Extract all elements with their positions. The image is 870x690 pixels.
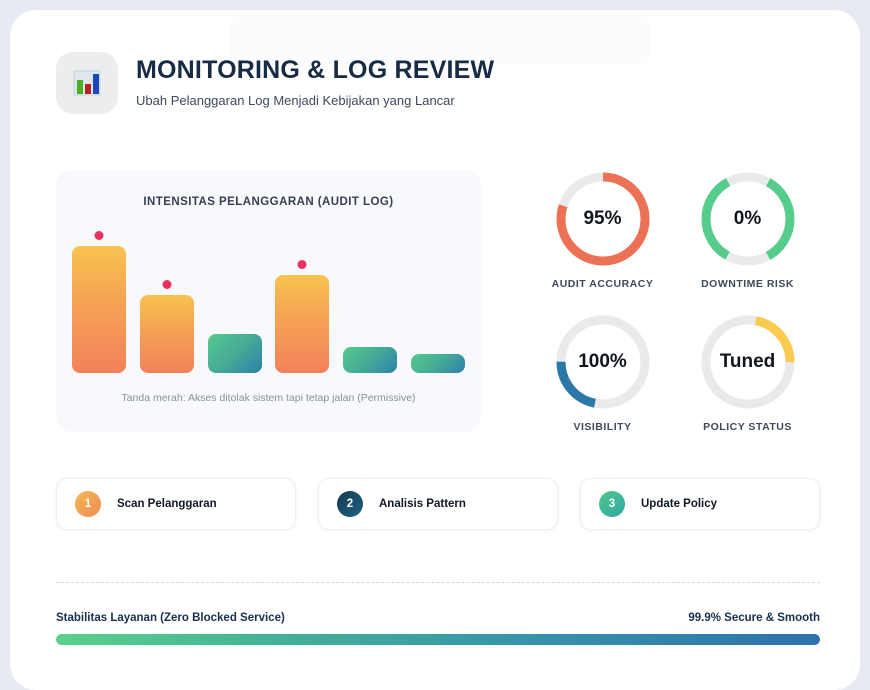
gauge-value: Tuned <box>699 313 797 411</box>
main-card: MONITORING & LOG REVIEW Ubah Pelanggaran… <box>10 10 860 690</box>
gauge-ring: 100% <box>554 313 652 411</box>
bar-chart-icon <box>56 52 118 114</box>
chart-bar <box>275 275 329 373</box>
gauge-label: POLICY STATUS <box>703 421 792 433</box>
chart-caption: Tanda merah: Akses ditolak sistem tapi t… <box>56 392 481 404</box>
step-label: Scan Pelanggaran <box>117 498 217 510</box>
chart-title: INTENSITAS PELANGGARAN (AUDIT LOG) <box>56 196 481 208</box>
step-number-badge: 2 <box>337 491 363 517</box>
page-root: MONITORING & LOG REVIEW Ubah Pelanggaran… <box>0 0 870 690</box>
bar-slot <box>275 275 329 373</box>
stability-progress-track <box>56 634 820 645</box>
bar-slot <box>72 246 126 373</box>
kpi-gauge-grid: 95%AUDIT ACCURACY0%DOWNTIME RISK100%VISI… <box>530 170 820 456</box>
workflow-steps: 1Scan Pelanggaran2Analisis Pattern3Updat… <box>56 478 820 530</box>
footer-divider <box>56 582 820 583</box>
step-label: Update Policy <box>641 498 717 510</box>
step-card-1[interactable]: 1Scan Pelanggaran <box>56 478 296 530</box>
gauge-value: 100% <box>554 313 652 411</box>
bar-slot <box>140 295 194 373</box>
chart-bar <box>208 334 262 373</box>
step-number-badge: 1 <box>75 491 101 517</box>
step-card-2[interactable]: 2Analisis Pattern <box>318 478 558 530</box>
denied-marker-dot <box>162 280 171 289</box>
step-number-badge: 3 <box>599 491 625 517</box>
gauge-downtime-risk: 0%DOWNTIME RISK <box>675 170 820 313</box>
gauge-label: VISIBILITY <box>573 421 631 433</box>
gauge-visibility: 100%VISIBILITY <box>530 313 675 456</box>
gauge-ring: 0% <box>699 170 797 268</box>
gauge-policy-status: TunedPOLICY STATUS <box>675 313 820 456</box>
chart-bar <box>343 347 397 373</box>
denied-marker-dot <box>298 260 307 269</box>
gauge-label: DOWNTIME RISK <box>701 278 794 290</box>
gauge-ring: 95% <box>554 170 652 268</box>
header-text-group: MONITORING & LOG REVIEW Ubah Pelanggaran… <box>136 57 494 108</box>
step-card-3[interactable]: 3Update Policy <box>580 478 820 530</box>
chart-bars <box>72 228 465 373</box>
gauge-value: 0% <box>699 170 797 268</box>
bar-slot <box>208 334 262 373</box>
bar-slot <box>343 347 397 373</box>
footer-row: Stabilitas Layanan (Zero Blocked Service… <box>56 612 820 624</box>
gauge-label: AUDIT ACCURACY <box>552 278 654 290</box>
stability-label: Stabilitas Layanan (Zero Blocked Service… <box>56 612 285 624</box>
step-label: Analisis Pattern <box>379 498 466 510</box>
gauge-value: 95% <box>554 170 652 268</box>
stability-progress-fill <box>56 634 820 645</box>
denied-marker-dot <box>95 231 104 240</box>
chart-bar <box>140 295 194 373</box>
chart-bar <box>411 354 465 373</box>
gauge-ring: Tuned <box>699 313 797 411</box>
gauge-audit-accuracy: 95%AUDIT ACCURACY <box>530 170 675 313</box>
violation-chart-panel: INTENSITAS PELANGGARAN (AUDIT LOG) Tanda… <box>56 170 481 432</box>
bar-slot <box>411 354 465 373</box>
stability-value: 99.9% Secure & Smooth <box>688 612 820 624</box>
page-title: MONITORING & LOG REVIEW <box>136 57 494 85</box>
page-header: MONITORING & LOG REVIEW Ubah Pelanggaran… <box>56 52 494 114</box>
page-subtitle: Ubah Pelanggaran Log Menjadi Kebijakan y… <box>136 93 494 109</box>
chart-bar <box>72 246 126 373</box>
